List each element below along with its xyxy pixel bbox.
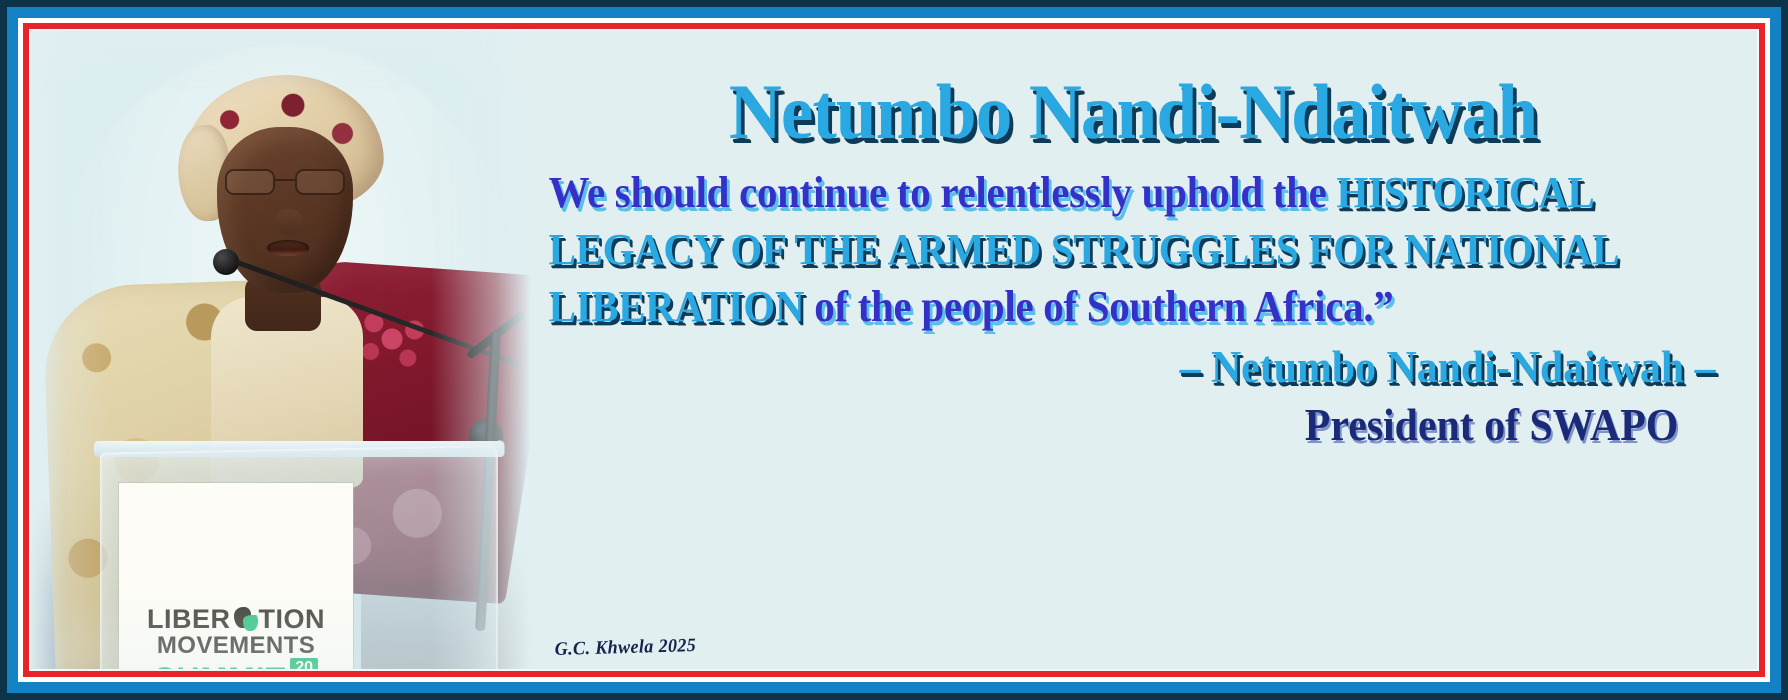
- logo-liber-text: LIBER: [147, 606, 231, 634]
- logo-summit-text: SUMMIT: [154, 663, 286, 669]
- africa-icon-green: [243, 615, 258, 631]
- border-blue: LIBER TION MOVEMENTS SUMMIT 20: [7, 7, 1781, 693]
- nose: [275, 209, 303, 235]
- page-title: Netumbo Nandi-Ndaitwah: [578, 75, 1687, 150]
- logo-line-summit: SUMMIT 20 25: [127, 658, 345, 669]
- lens-right: [295, 169, 345, 195]
- africa-icon: [232, 606, 258, 632]
- quote-text: We should continue to relentlessly uphol…: [543, 164, 1640, 336]
- text-content: Netumbo Nandi-Ndaitwah We should continu…: [531, 31, 1757, 669]
- poster-root: LIBER TION MOVEMENTS SUMMIT 20: [0, 0, 1788, 700]
- attribution: – Netumbo Nandi-Ndaitwah – President of …: [626, 341, 1723, 451]
- quote-segment-lower-2: of the people of Southern Africa.”: [814, 282, 1393, 331]
- poster-canvas: LIBER TION MOVEMENTS SUMMIT 20: [31, 31, 1757, 669]
- quote-segment-lower-1: We should continue to relentlessly uphol…: [549, 168, 1337, 217]
- logo-line-liberation: LIBER TION: [127, 606, 345, 634]
- lens-bridge: [275, 179, 295, 181]
- border-inner-white: LIBER TION MOVEMENTS SUMMIT 20: [29, 29, 1759, 671]
- mouth: [267, 240, 309, 256]
- summit-logo: LIBER TION MOVEMENTS SUMMIT 20: [119, 606, 353, 669]
- lens-left: [225, 169, 275, 195]
- logo-line-movements: MOVEMENTS: [127, 633, 345, 658]
- podium-sign: LIBER TION MOVEMENTS SUMMIT 20: [119, 483, 353, 669]
- attribution-role: President of SWAPO: [626, 399, 1716, 452]
- logo-tion-text: TION: [259, 606, 326, 634]
- attribution-name: – Netumbo Nandi-Ndaitwah –: [626, 341, 1716, 394]
- border-red: LIBER TION MOVEMENTS SUMMIT 20: [23, 23, 1765, 677]
- year-top: 20: [295, 660, 313, 669]
- logo-year-badge: 20 25: [290, 658, 318, 669]
- artist-signature: G.C. Khwela 2025: [554, 635, 696, 661]
- speaker-photo: LIBER TION MOVEMENTS SUMMIT 20: [31, 31, 531, 669]
- eyeglasses-icon: [223, 169, 347, 197]
- border-white: LIBER TION MOVEMENTS SUMMIT 20: [18, 18, 1770, 682]
